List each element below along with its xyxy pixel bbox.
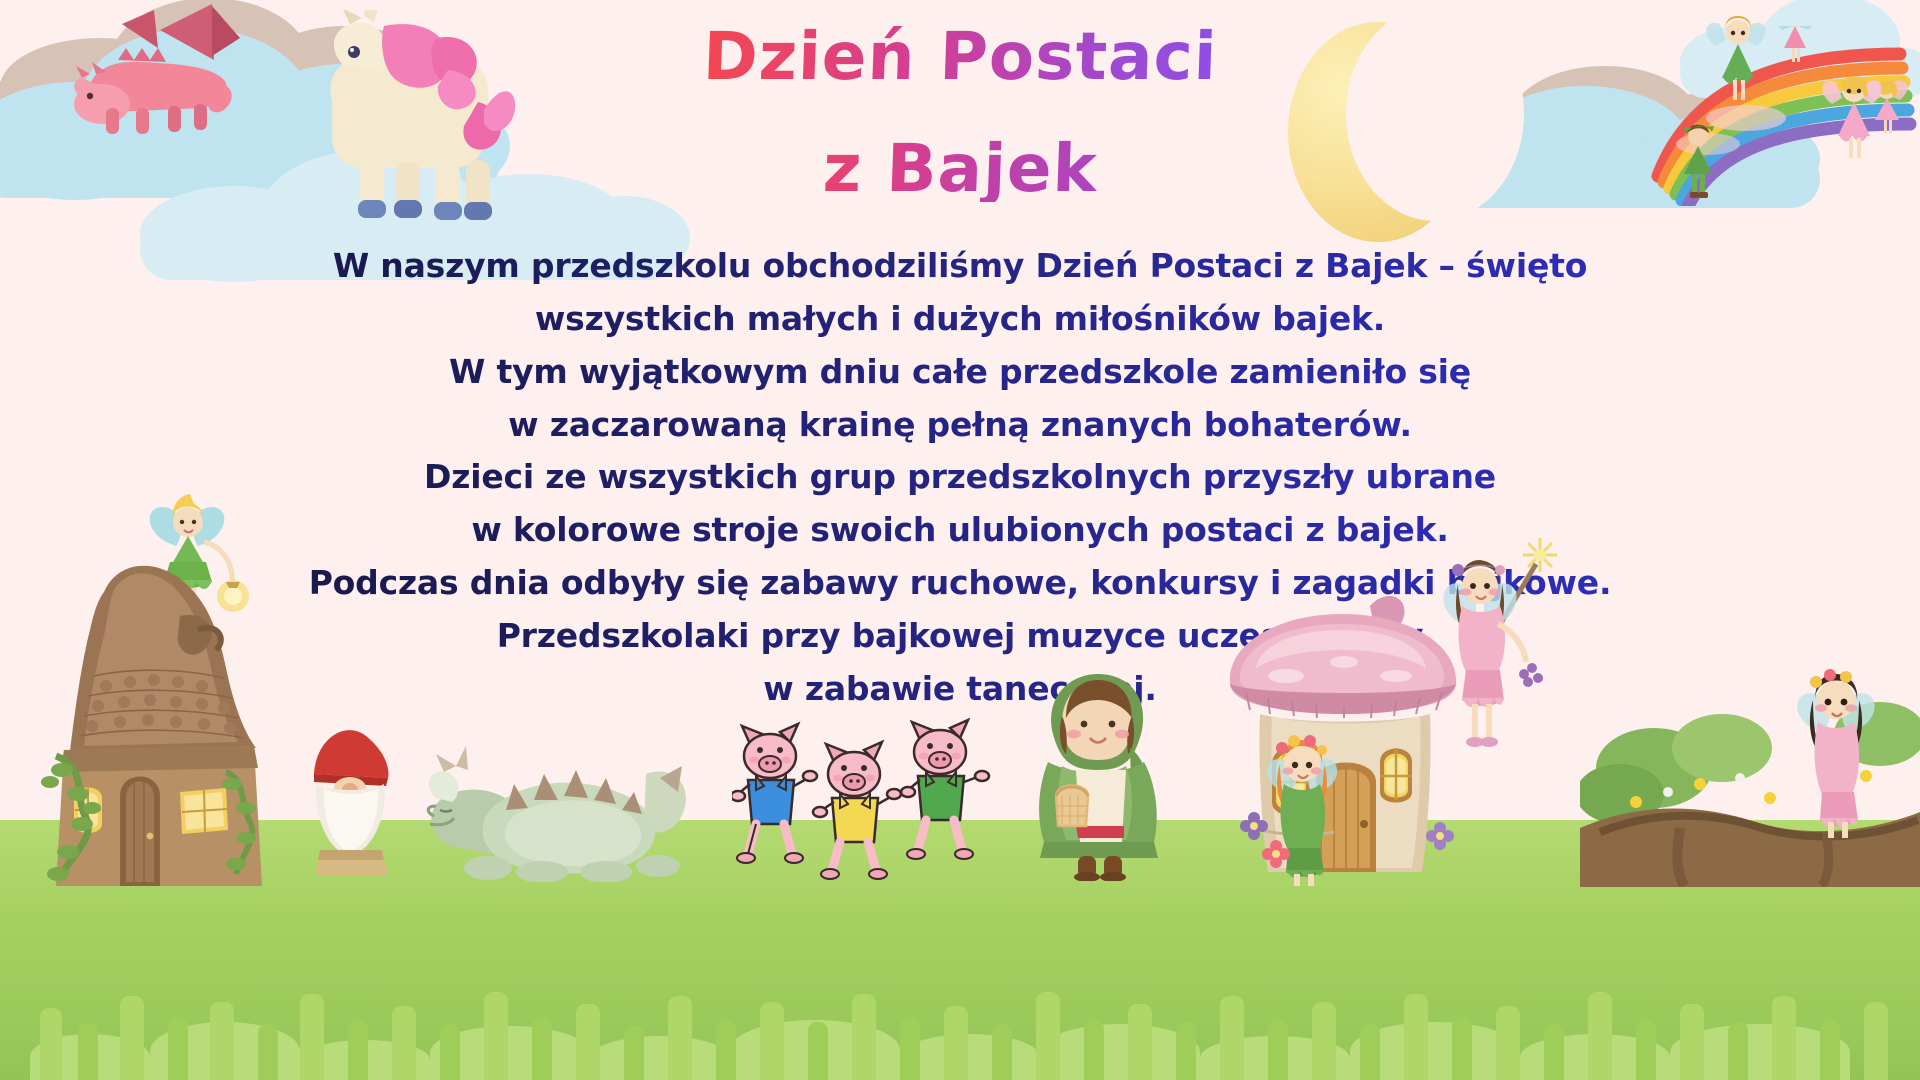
top-right-fairy-upper [1700,8,1780,108]
cloud-top-left-lower [140,140,700,280]
grass-meadow [0,820,1920,1080]
green-fairy [138,488,258,678]
body-line-9: w zabawie tanecznej. [0,666,1920,713]
top-right-fairy-lower [1816,66,1896,166]
cloud-top-right-shadow [1390,60,1830,180]
body-line-2: wszystkich małych i dużych miłośników ba… [0,296,1920,343]
crescent-moon [1288,22,1468,242]
poster-body-text: W naszym przedszkolu obchodziliśmy Dzień… [0,243,1920,719]
pink-dragon [62,4,242,144]
body-line-7: Podczas dnia odbyły się zabawy ruchowe, … [0,560,1920,607]
unicorn [288,10,518,225]
title-line-2-text: z Bajek [822,136,1099,202]
cloud-top-right-upper [1680,0,1920,100]
flower-fairy [1254,726,1384,886]
cloud-top-left [0,12,530,202]
sleeping-dragon [410,712,700,882]
cloud-top-left-shadow [0,0,510,142]
red-riding-hood [1022,666,1182,881]
poster-canvas: Dzień Postaci z Bajek W naszym przedszko… [0,0,1920,1080]
body-line-5: Dzieci ze wszystkich grup przedszkolnych… [0,454,1920,501]
body-line-1: W naszym przedszkolu obchodziliśmy Dzień… [0,243,1920,290]
title-line-2: z Bajek [0,136,1920,202]
body-line-4: w zaczarowaną krainę pełną znanych bohat… [0,402,1920,449]
wizard-hat-house [30,556,280,886]
three-little-pigs [732,718,1002,888]
gnome [290,718,410,878]
title-line-1: Dzień Postaci [0,24,1920,90]
body-line-3: W tym wyjątkowym dniu całe przedszkole z… [0,349,1920,396]
body-line-8: Przedszkolaki przy bajkowej muzyce uczes… [0,613,1920,660]
poster-title: Dzień Postaci z Bajek [0,24,1920,202]
mushroom-fairy [1428,528,1578,758]
cloud-top-right [1370,78,1840,208]
body-line-6: w kolorowe stroje swoich ulubionych post… [0,507,1920,554]
title-line-1-text: Dzień Postaci [702,24,1219,90]
mushroom-house [1216,580,1476,880]
tree-branch-fairy [1580,652,1920,887]
rainbow-with-fairies [1650,26,1920,206]
